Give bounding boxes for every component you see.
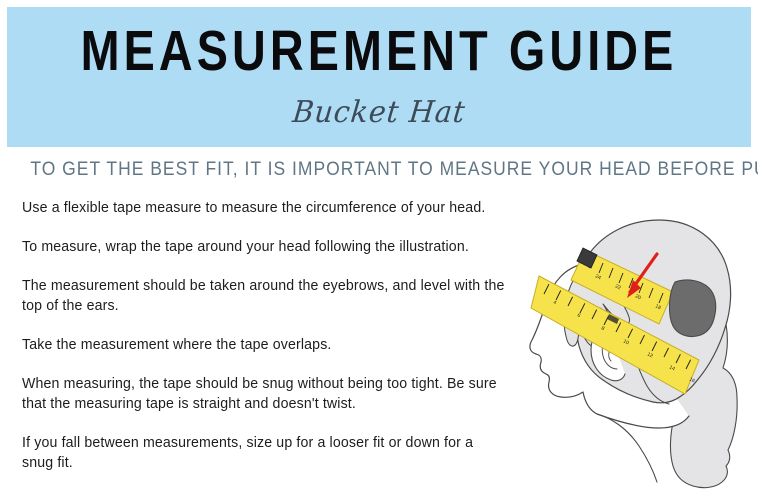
head-measurement-illustration: 24 22 20 18 <box>523 206 758 504</box>
instruction-paragraph: Use a flexible tape measure to measure t… <box>22 198 507 218</box>
instruction-paragraph: To measure, wrap the tape around your he… <box>22 237 507 257</box>
instruction-paragraph: The measurement should be taken around t… <box>22 276 507 316</box>
instructions-list: Use a flexible tape measure to measure t… <box>22 198 522 473</box>
instruction-paragraph: Take the measurement where the tape over… <box>22 335 507 355</box>
instruction-paragraph: When measuring, the tape should be snug … <box>22 374 507 414</box>
hair-tie-shape <box>669 280 715 337</box>
measurement-guide-page: MEASUREMENT GUIDE Bucket Hat TO GET THE … <box>0 0 758 504</box>
tagline: TO GET THE BEST FIT, IT IS IMPORTANT TO … <box>30 158 727 182</box>
product-name: Bucket Hat <box>24 95 735 131</box>
page-title: MEASUREMENT GUIDE <box>74 21 684 81</box>
header-band: MEASUREMENT GUIDE Bucket Hat <box>7 7 751 147</box>
instruction-paragraph: If you fall between measurements, size u… <box>22 433 507 473</box>
